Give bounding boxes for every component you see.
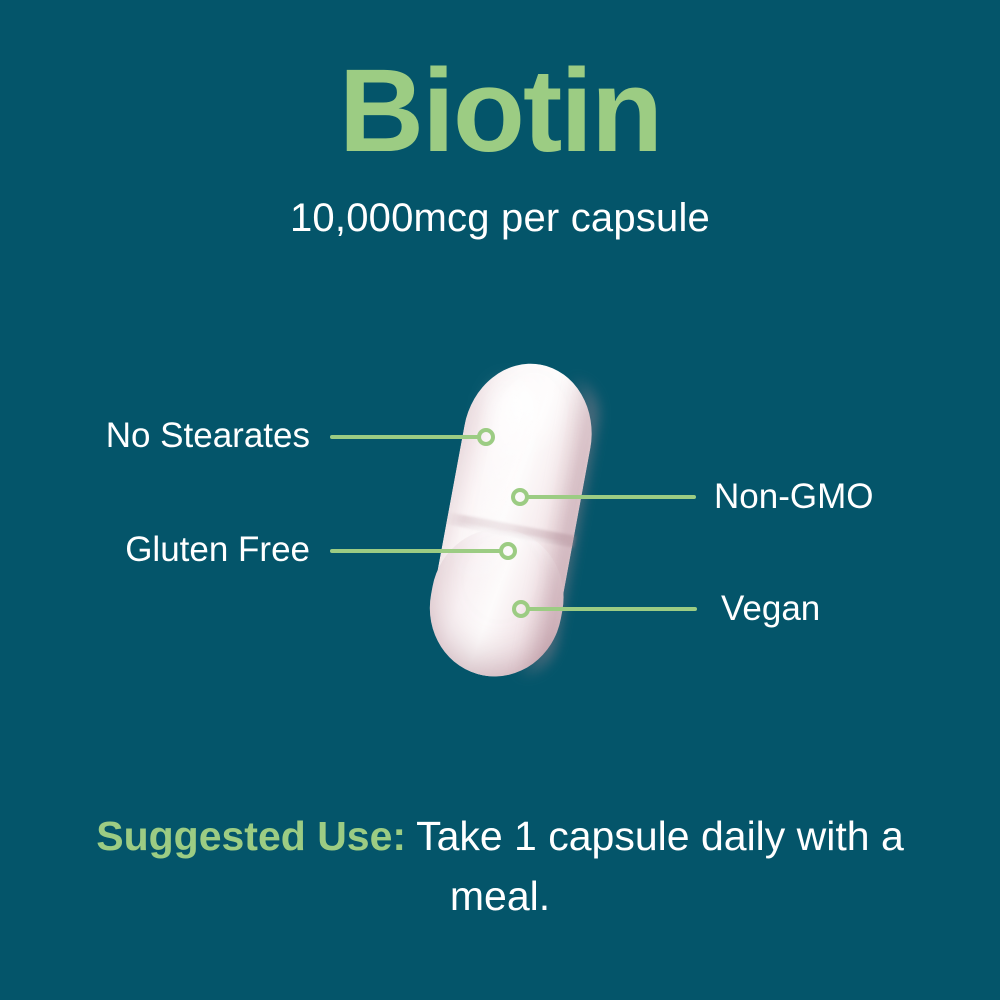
callout-label-gluten-free: Gluten Free [40, 532, 310, 567]
callout-label-non-gmo: Non-GMO [714, 479, 974, 514]
page-title: Biotin [0, 52, 1000, 170]
suggested-use-label: Suggested Use: [96, 813, 406, 859]
product-infographic: Biotin 10,000mcg per capsule No Stearate… [0, 0, 1000, 1000]
callout-label-no-stearates: No Stearates [40, 418, 310, 453]
suggested-use-block: Suggested Use:Take 1 capsule daily with … [0, 806, 1000, 926]
suggested-use-text: Take 1 capsule daily with a meal. [416, 813, 904, 919]
callout-label-vegan: Vegan [721, 591, 971, 626]
capsule-illustration [398, 350, 618, 690]
capsule-shape [420, 353, 603, 687]
dosage-subtitle: 10,000mcg per capsule [0, 198, 1000, 238]
